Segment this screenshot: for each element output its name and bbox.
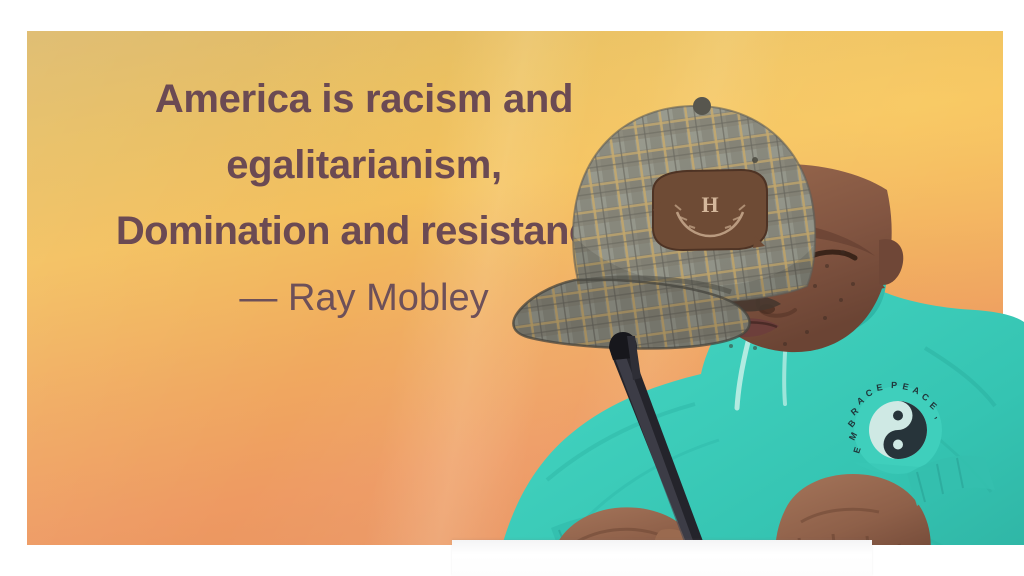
ear	[879, 239, 903, 285]
cap-patch-letter: H	[701, 192, 718, 217]
hoodie-logo	[854, 386, 942, 474]
paper-sheet	[452, 540, 872, 576]
svg-text:P: P	[891, 380, 897, 390]
cap-button	[693, 97, 711, 115]
cap-eyelet	[752, 157, 758, 163]
person-photo: E M B R A C E P E A C E ,	[455, 60, 1024, 576]
quote-slide: America is racism and egalitarianism, Do…	[0, 0, 1024, 576]
cap-patch: H	[653, 170, 767, 250]
